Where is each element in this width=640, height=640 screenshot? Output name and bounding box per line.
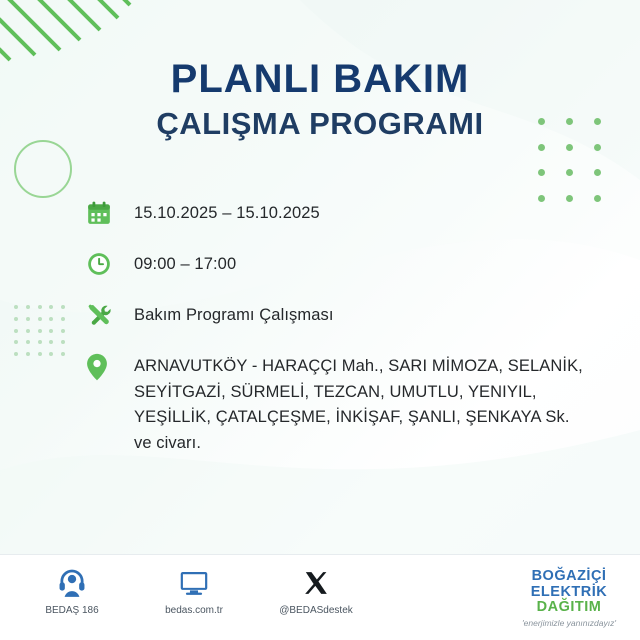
brand-line-2: ELEKTRİK	[522, 585, 616, 601]
work-text: Bakım Programı Çalışması	[134, 300, 334, 329]
address-text: ARNAVUTKÖY - HARAÇÇI Mah., SARI MİMOZA, …	[134, 351, 590, 456]
footer-social-label: @BEDASdestek	[279, 605, 353, 616]
time-text: 09:00 – 17:00	[134, 249, 236, 278]
location-pin-icon	[86, 351, 120, 381]
tools-icon	[86, 300, 120, 330]
footer-item-phone[interactable]: BEDAŞ 186	[26, 565, 118, 616]
brand-line-3: DAĞITIM	[522, 600, 616, 616]
x-social-icon	[303, 565, 329, 601]
date-text: 15.10.2025 – 15.10.2025	[134, 198, 320, 227]
info-row-time: 09:00 – 17:00	[86, 249, 590, 279]
info-block: 15.10.2025 – 15.10.2025 09:00 – 17:00	[86, 198, 590, 456]
brand-line-1: BOĞAZİÇİ	[522, 569, 616, 585]
brand-slogan: 'enerjimizle yanınızdayız'	[522, 619, 616, 628]
decorative-circle	[14, 140, 72, 198]
footer-contact-list: BEDAŞ 186 bedas.com.tr	[26, 565, 362, 616]
headset-icon	[58, 565, 86, 601]
info-row-date: 15.10.2025 – 15.10.2025	[86, 198, 590, 228]
page-subtitle: ÇALIŞMA PROGRAMI	[0, 106, 640, 142]
poster-footer: BEDAŞ 186 bedas.com.tr	[0, 554, 640, 640]
calendar-icon	[86, 198, 120, 228]
poster-header: PLANLI BAKIM ÇALIŞMA PROGRAMI	[0, 56, 640, 142]
info-row-work: Bakım Programı Çalışması	[86, 300, 590, 330]
info-row-address: ARNAVUTKÖY - HARAÇÇI Mah., SARI MİMOZA, …	[86, 351, 590, 456]
footer-phone-label: BEDAŞ 186	[45, 605, 98, 616]
brand-logo: BOĞAZİÇİ ELEKTRİK DAĞITIM 'enerjimizle y…	[522, 569, 616, 628]
clock-icon	[86, 249, 120, 279]
footer-item-website[interactable]: bedas.com.tr	[148, 565, 240, 616]
poster-root: PLANLI BAKIM ÇALIŞMA PROGRAMI 15.10.2025…	[0, 0, 640, 640]
footer-website-label: bedas.com.tr	[165, 605, 223, 616]
page-title: PLANLI BAKIM	[0, 56, 640, 102]
decorative-dot-grid-left	[14, 305, 68, 359]
footer-item-social[interactable]: @BEDASdestek	[270, 565, 362, 616]
monitor-icon	[179, 565, 209, 601]
